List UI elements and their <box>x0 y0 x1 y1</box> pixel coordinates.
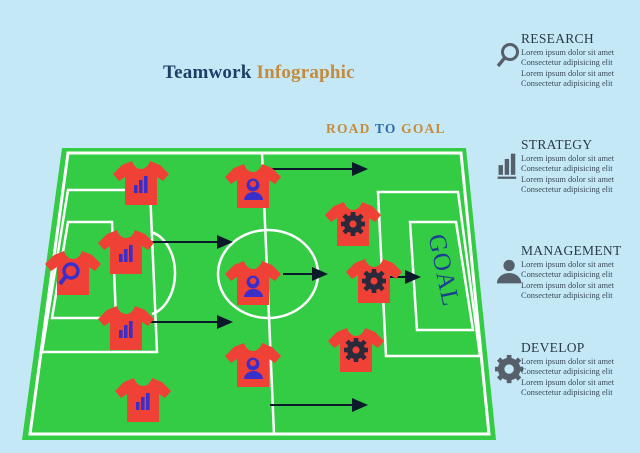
section-body: MANAGEMENT Lorem ipsum dolor sit amet Co… <box>521 243 640 302</box>
section-line: Lorem ipsum dolor sit amet <box>521 48 640 58</box>
section-line: Consectetur adipisicing elit <box>521 58 640 68</box>
player-strategy-2[interactable] <box>95 224 157 280</box>
info-panel: RESEARCH Lorem ipsum dolor sit amet Cons… <box>495 0 640 453</box>
gear-icon <box>341 212 365 236</box>
section-line: Consectetur adipisicing elit <box>521 185 640 195</box>
section-title: MANAGEMENT <box>521 243 640 259</box>
player-management-1[interactable] <box>222 158 284 214</box>
player-develop-1[interactable] <box>322 196 384 252</box>
section-line: Lorem ipsum dolor sit amet <box>521 281 640 291</box>
section-title: RESEARCH <box>521 31 640 47</box>
player-management-2[interactable] <box>222 255 284 311</box>
section-title: DEVELOP <box>521 340 640 356</box>
gear-icon <box>344 338 368 362</box>
gear-icon <box>362 269 386 293</box>
section-line: Consectetur adipisicing elit <box>521 388 640 398</box>
section-line: Lorem ipsum dolor sit amet <box>521 69 640 79</box>
soccer-field: GOAL <box>0 0 500 453</box>
section-line: Lorem ipsum dolor sit amet <box>521 154 640 164</box>
player-develop-3[interactable] <box>325 322 387 378</box>
section-line: Consectetur adipisicing elit <box>521 164 640 174</box>
player-management-3[interactable] <box>222 337 284 393</box>
player-strategy-1[interactable] <box>110 155 172 211</box>
section-title: STRATEGY <box>521 137 640 153</box>
section-body: STRATEGY Lorem ipsum dolor sit amet Cons… <box>521 137 640 196</box>
section-line: Consectetur adipisicing elit <box>521 79 640 89</box>
section-line: Consectetur adipisicing elit <box>521 367 640 377</box>
player-strategy-3[interactable] <box>95 300 157 356</box>
player-strategy-4[interactable] <box>112 372 174 428</box>
jersey-shirt <box>45 251 101 295</box>
section-line: Consectetur adipisicing elit <box>521 270 640 280</box>
section-line: Lorem ipsum dolor sit amet <box>521 175 640 185</box>
section-line: Lorem ipsum dolor sit amet <box>521 378 640 388</box>
player-research-1[interactable] <box>42 245 104 301</box>
section-body: RESEARCH Lorem ipsum dolor sit amet Cons… <box>521 31 640 90</box>
player-develop-2[interactable] <box>343 253 405 309</box>
section-line: Lorem ipsum dolor sit amet <box>521 260 640 270</box>
section-line: Consectetur adipisicing elit <box>521 291 640 301</box>
section-line: Lorem ipsum dolor sit amet <box>521 357 640 367</box>
section-body: DEVELOP Lorem ipsum dolor sit amet Conse… <box>521 340 640 399</box>
infographic-canvas: Teamwork Infographic ROAD TO GOAL <box>0 0 640 453</box>
